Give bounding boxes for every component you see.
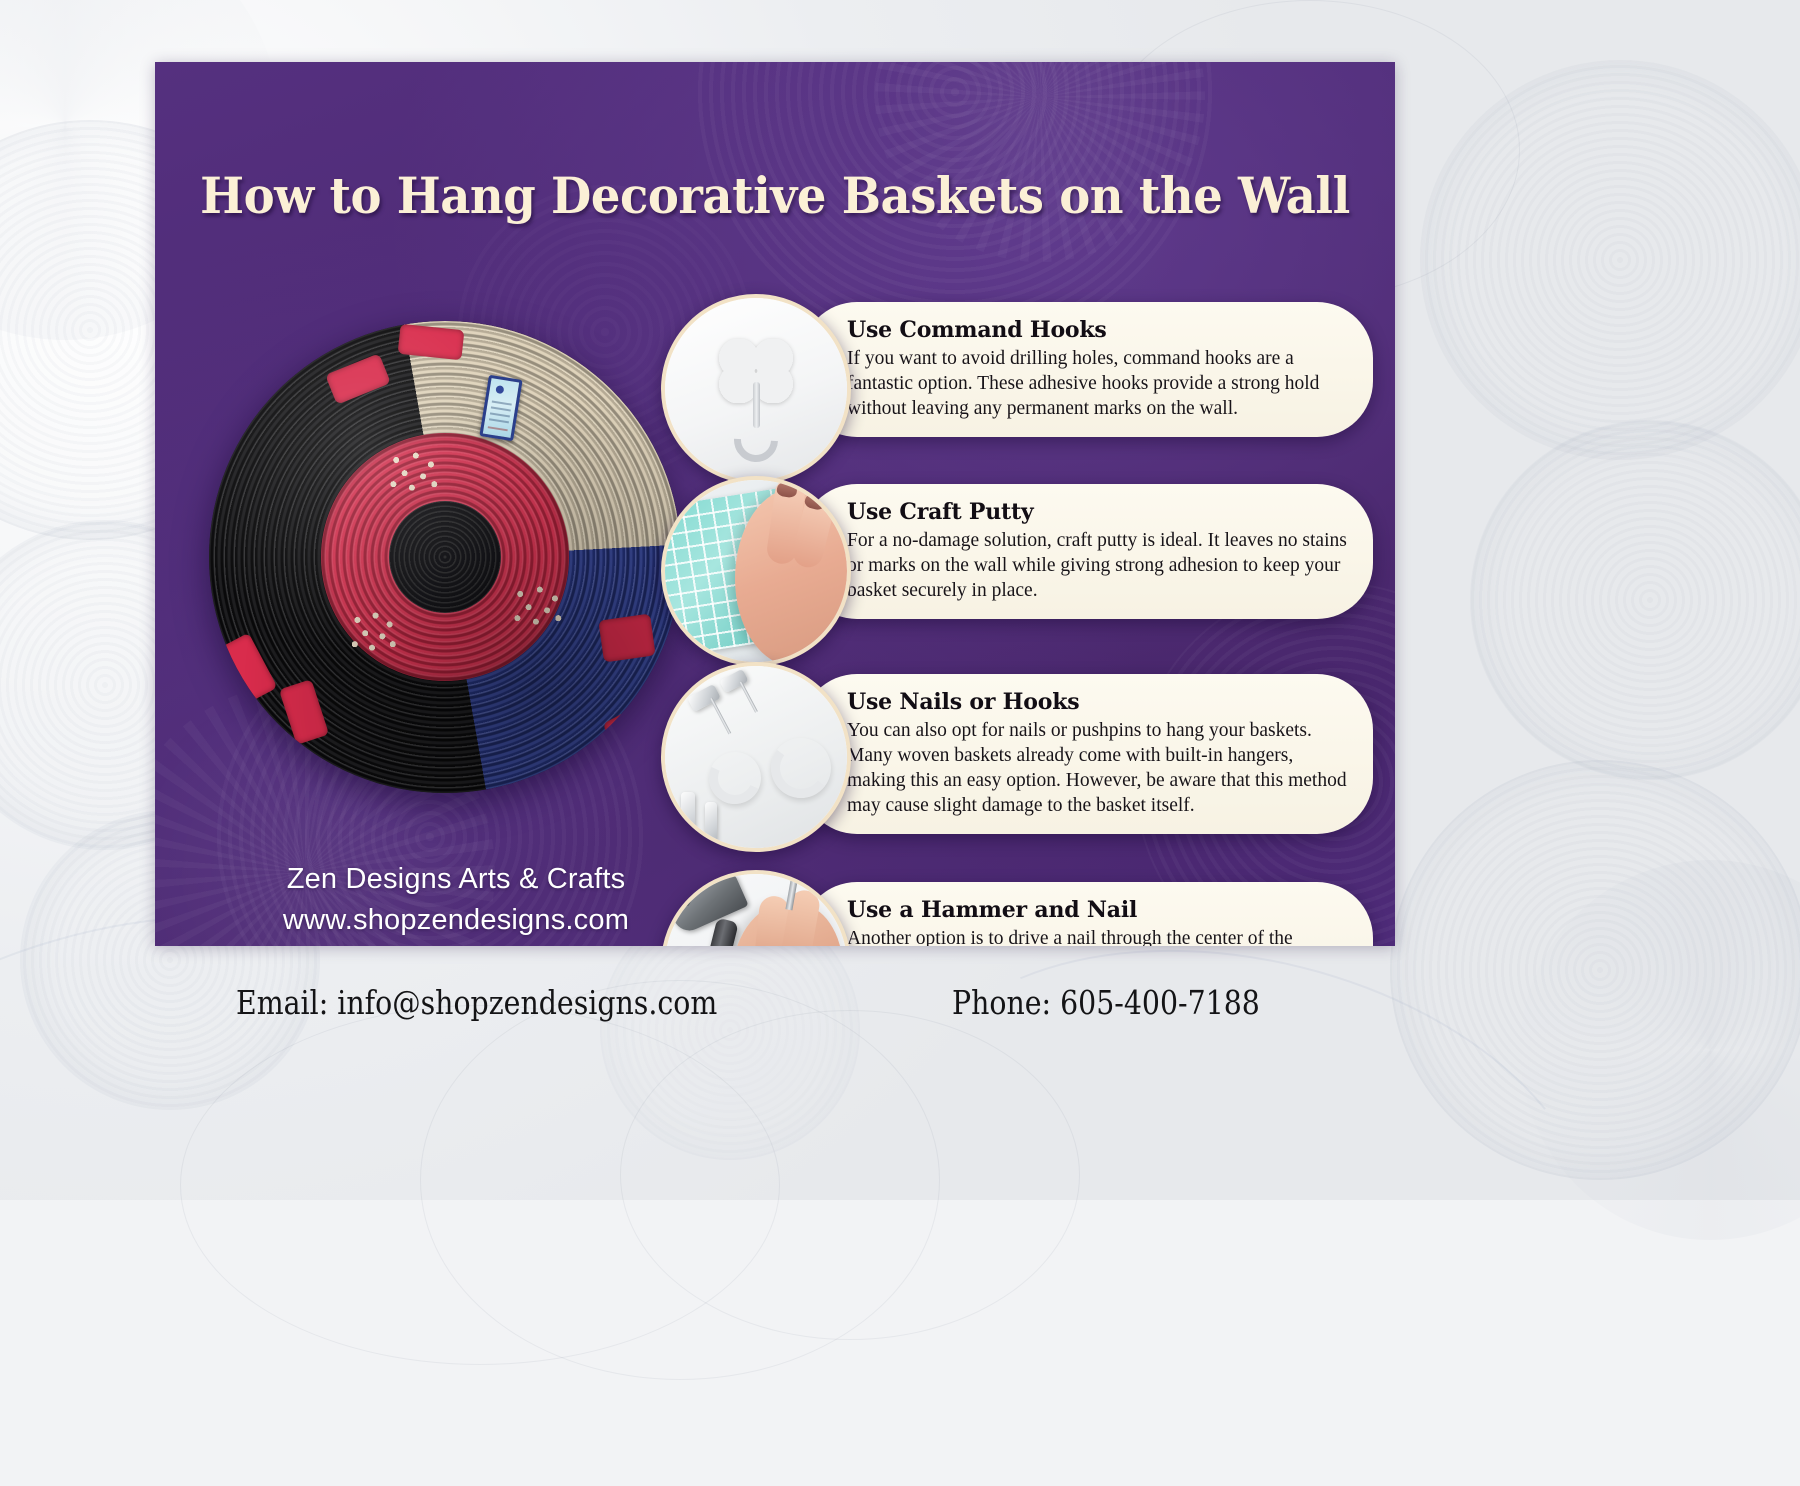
bg-basket-texture: [1470, 420, 1800, 780]
tip-card: Use Nails or Hooks You can also opt for …: [801, 674, 1373, 834]
nail: [705, 802, 717, 850]
brand-website[interactable]: www.shopzendesigns.com: [221, 900, 691, 941]
tip-body: Another option is to drive a nail throug…: [847, 926, 1347, 946]
list-item[interactable]: Use a Hammer and Nail Another option is …: [661, 870, 1381, 946]
tip-card: Use Command Hooks If you want to avoid d…: [801, 302, 1373, 437]
command-hook-icon: [661, 294, 851, 484]
hero-basket-photo: [185, 297, 705, 817]
tag-logo-dot: [495, 385, 504, 394]
tip-card: Use a Hammer and Nail Another option is …: [801, 882, 1373, 946]
list-item[interactable]: Use Nails or Hooks You can also opt for …: [661, 658, 1381, 846]
brand-name: Zen Designs Arts & Crafts: [221, 859, 691, 900]
craft-putty-icon: [661, 476, 851, 666]
tip-title: Use a Hammer and Nail: [847, 898, 1347, 924]
tip-title: Use Craft Putty: [847, 500, 1347, 526]
tip-title: Use Command Hooks: [847, 318, 1347, 344]
basket-lighting-shade: [209, 321, 681, 793]
tip-body: You can also opt for nails or pushpins t…: [847, 718, 1347, 818]
footer-email[interactable]: Email: info@shopzendesigns.com: [236, 983, 717, 1022]
poster-panel: How to Hang Decorative Baskets on the Wa…: [155, 62, 1395, 946]
tip-body: For a no-damage solution, craft putty is…: [847, 528, 1347, 603]
woven-basket-image: [209, 321, 681, 793]
page-title: How to Hang Decorative Baskets on the Wa…: [198, 166, 1351, 225]
list-item[interactable]: Use Craft Putty For a no-damage solution…: [661, 476, 1381, 634]
tip-body: If you want to avoid drilling holes, com…: [847, 346, 1347, 421]
nails-hooks-icon: [661, 662, 851, 852]
pin-spike: [710, 698, 731, 735]
tips-list: Use Command Hooks If you want to avoid d…: [661, 294, 1381, 946]
brand-block: Zen Designs Arts & Crafts www.shopzendes…: [221, 859, 691, 941]
footer: Email: info@shopzendesigns.com Phone: 60…: [0, 963, 1800, 1200]
wall-hook: [767, 734, 835, 802]
footer-phone[interactable]: Phone: 605-400-7188: [952, 983, 1260, 1022]
pin-spike: [739, 681, 758, 712]
list-item[interactable]: Use Command Hooks If you want to avoid d…: [661, 294, 1381, 452]
hook-curve: [725, 409, 787, 471]
nail: [681, 792, 695, 848]
tip-title: Use Nails or Hooks: [847, 690, 1347, 716]
tip-card: Use Craft Putty For a no-damage solution…: [801, 484, 1373, 619]
hammer-nail-icon: [661, 870, 851, 946]
